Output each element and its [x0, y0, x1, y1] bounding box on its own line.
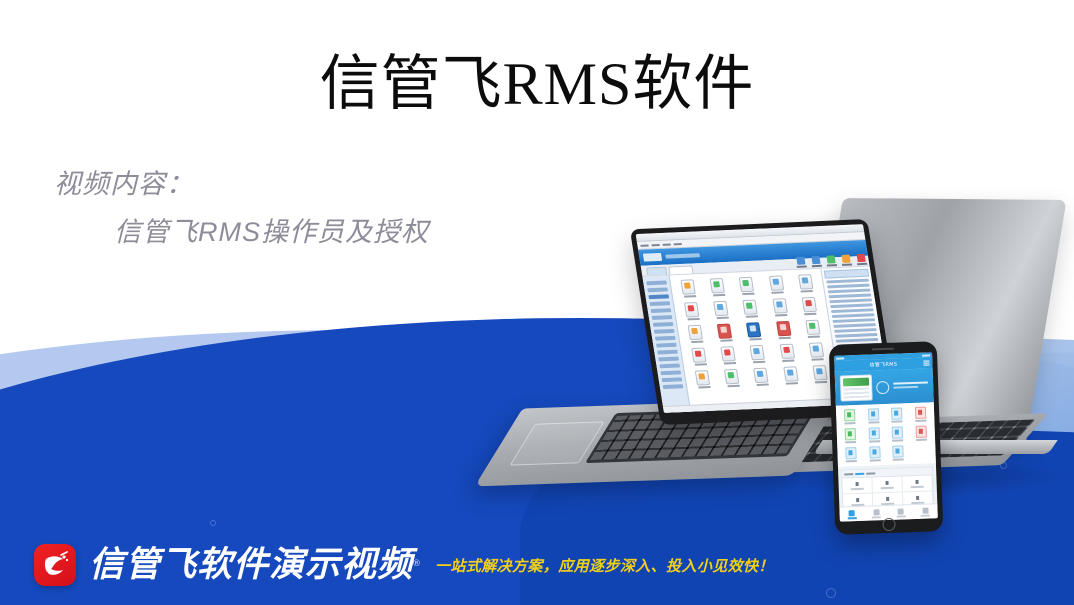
software-title-text — [665, 253, 700, 258]
right-panel-row[interactable] — [830, 303, 873, 308]
feiyan-bird-logo-icon — [34, 544, 76, 586]
menu-entry[interactable] — [655, 336, 676, 341]
mobile-app-icon[interactable] — [864, 446, 886, 462]
module-icon-selected[interactable] — [739, 322, 769, 341]
stats-cell — [842, 477, 873, 494]
phone-home-button[interactable] — [882, 518, 895, 531]
module-icon[interactable] — [772, 343, 802, 362]
mobile-app-icon[interactable] — [887, 426, 909, 442]
battery-indicator — [922, 354, 930, 356]
toolbar-button[interactable] — [839, 255, 852, 269]
right-panel-row[interactable] — [833, 318, 876, 323]
module-icon[interactable] — [791, 274, 821, 293]
menu-entry[interactable] — [663, 384, 684, 389]
banner-thumbnail — [840, 374, 873, 401]
stats-title — [844, 473, 853, 475]
banner-badge-icon — [876, 380, 889, 393]
mobile-promo-banner[interactable] — [835, 368, 934, 405]
right-panel-row[interactable] — [827, 284, 870, 289]
phone-earpiece — [872, 348, 894, 351]
menu-entry[interactable] — [653, 322, 674, 327]
software-tab[interactable] — [646, 267, 667, 276]
banner-text-lines — [893, 381, 928, 390]
mobile-app-icon[interactable] — [886, 407, 908, 423]
module-icon-highlight[interactable] — [769, 321, 799, 340]
nav-item-profile[interactable] — [913, 504, 938, 519]
smartphone-showing-rms-mobile-app: 信管飞RMS — [829, 341, 944, 535]
video-content-value: 信管飞RMS操作员及授权 — [54, 208, 429, 256]
menu-entry[interactable] — [651, 308, 672, 313]
menu-item[interactable] — [651, 244, 659, 246]
brand-banner: 信管飞软件演示视频 ® 一站式解决方案，应用逐步深入、投入小见效快！ — [0, 525, 1074, 605]
mobile-app-icon[interactable] — [840, 428, 862, 444]
right-panel-row[interactable] — [829, 293, 872, 298]
module-icon[interactable] — [677, 302, 707, 321]
carrier-indicator — [836, 357, 844, 359]
video-content-label: 视频内容： — [54, 169, 194, 199]
menu-entry[interactable] — [649, 301, 670, 306]
mobile-app-icon[interactable] — [909, 406, 931, 422]
module-icon[interactable] — [688, 370, 718, 389]
menu-entry[interactable] — [656, 343, 677, 348]
video-content-block: 视频内容： 信管飞RMS操作员及授权 — [54, 160, 429, 256]
right-panel-row[interactable] — [832, 313, 875, 318]
device-mockup-cluster: 信管飞RMS — [470, 195, 1074, 525]
menu-entry[interactable] — [660, 370, 681, 375]
mobile-app-icon[interactable] — [910, 425, 932, 441]
right-panel-row[interactable] — [828, 289, 871, 294]
module-icon[interactable] — [684, 347, 714, 366]
right-panel-row[interactable] — [833, 323, 876, 328]
menu-entry[interactable] — [658, 357, 679, 362]
right-panel-row[interactable] — [829, 298, 872, 303]
menu-entry[interactable] — [654, 329, 675, 334]
module-icon[interactable] — [794, 297, 824, 316]
software-module-icon-grid — [670, 269, 843, 413]
module-icon-highlight[interactable] — [710, 323, 740, 342]
presentation-slide: 信管飞RMS软件 视频内容： 信管飞RMS操作员及授权 — [0, 0, 1074, 605]
right-panel-row[interactable] — [835, 333, 878, 338]
brand-name-text: 信管飞软件演示视频 — [89, 545, 413, 585]
toolbar-button[interactable] — [824, 255, 837, 269]
module-icon[interactable] — [765, 298, 795, 317]
right-panel-row[interactable] — [831, 308, 874, 313]
menu-item[interactable] — [674, 243, 682, 245]
module-icon[interactable] — [681, 324, 711, 343]
module-icon[interactable] — [761, 275, 791, 294]
module-icon[interactable] — [713, 346, 743, 365]
module-icon[interactable] — [743, 345, 773, 364]
software-logo-icon — [643, 253, 662, 262]
right-panel-header — [824, 269, 869, 279]
stats-cell — [902, 475, 933, 492]
mobile-app-icon[interactable] — [887, 445, 909, 461]
module-icon[interactable] — [732, 276, 762, 295]
menu-entry-selected[interactable] — [648, 294, 669, 299]
module-icon[interactable] — [717, 369, 747, 388]
menu-entry[interactable] — [662, 377, 683, 382]
menu-entry[interactable] — [647, 287, 668, 292]
toolbar-button[interactable] — [809, 256, 822, 270]
toolbar-button[interactable] — [794, 257, 807, 271]
mobile-app-icon[interactable] — [840, 447, 862, 463]
brand-tagline: 一站式解决方案，应用逐步深入、投入小见效快！ — [435, 555, 774, 576]
module-icon[interactable] — [746, 367, 776, 386]
module-icon[interactable] — [798, 319, 828, 338]
menu-entry[interactable] — [659, 363, 680, 368]
stats-filter-tab[interactable] — [866, 472, 875, 474]
phone-screen: 信管飞RMS — [834, 352, 938, 521]
toolbar-button[interactable] — [855, 254, 868, 268]
brand-name: 信管飞软件演示视频 ® — [89, 544, 413, 586]
software-tab[interactable] — [668, 265, 693, 274]
mobile-app-icon[interactable] — [862, 408, 884, 424]
module-icon[interactable] — [802, 342, 832, 361]
module-icon[interactable] — [736, 299, 766, 318]
right-panel-row[interactable] — [836, 338, 879, 343]
mobile-app-title: 信管飞RMS — [869, 361, 897, 369]
menu-item[interactable] — [640, 244, 648, 246]
module-icon[interactable] — [703, 278, 733, 297]
module-icon[interactable] — [776, 366, 806, 385]
menu-item[interactable] — [662, 243, 670, 245]
module-icon[interactable] — [673, 279, 703, 298]
nav-item-home[interactable] — [839, 507, 864, 522]
menu-entry[interactable] — [657, 350, 678, 355]
page-title: 信管飞RMS软件 — [0, 48, 1074, 120]
right-panel-row[interactable] — [826, 279, 869, 284]
mobile-app-icon-grid — [836, 402, 936, 466]
stats-cell — [872, 476, 903, 493]
mobile-app-icon[interactable] — [839, 409, 861, 425]
stats-filter-tab[interactable] — [855, 472, 864, 474]
right-panel-row[interactable] — [834, 328, 877, 333]
mobile-app-icon[interactable] — [863, 427, 885, 443]
module-icon[interactable] — [706, 300, 736, 319]
menu-entry[interactable] — [652, 315, 673, 320]
registered-trademark-mark: ® — [412, 543, 422, 585]
menu-entry[interactable] — [646, 281, 667, 286]
hamburger-menu-icon[interactable] — [923, 360, 929, 365]
